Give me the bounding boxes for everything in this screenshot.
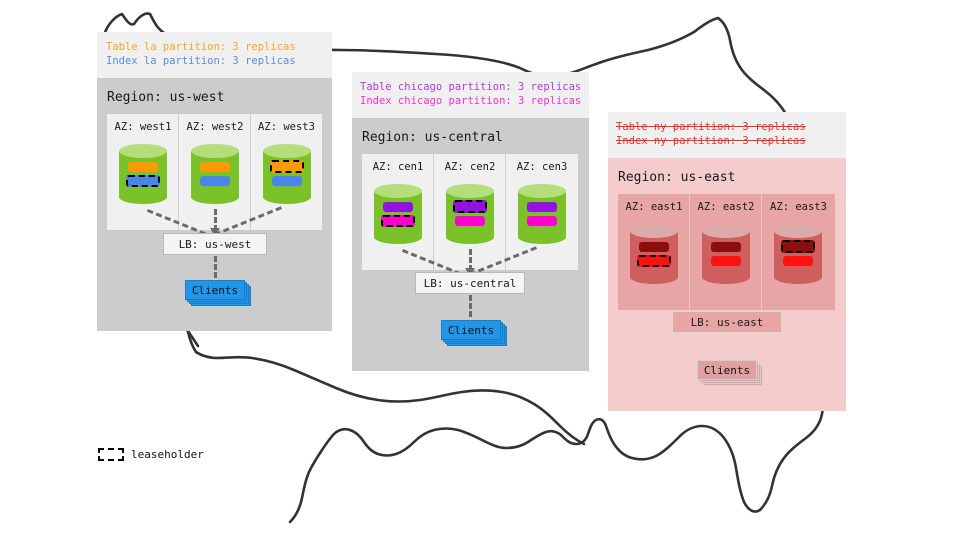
database-cylinder-cen1[interactable]: [374, 184, 422, 244]
us-west-table-partition-line: Table la partition: 3 replicas: [106, 41, 296, 53]
index-replica-bar-west2: [200, 176, 230, 186]
az-label-cen2: AZ: cen2: [434, 161, 506, 173]
az-label-east1: AZ: east1: [618, 201, 690, 213]
index-replica-bar-west1-leaseholder: [126, 175, 160, 187]
load-balancer-us-east[interactable]: LB: us-east: [672, 311, 782, 333]
az-label-west2: AZ: west2: [179, 121, 251, 133]
us-central-index-partition-line: Index chicago partition: 3 replicas: [360, 95, 581, 107]
clients-box-us-west[interactable]: Clients: [185, 280, 245, 300]
az-label-cen3: AZ: cen3: [506, 161, 578, 173]
index-replica-bar-cen3: [527, 216, 557, 226]
clients-box-us-central[interactable]: Clients: [441, 320, 501, 340]
clients-stack-us-central[interactable]: Clients: [441, 320, 507, 346]
database-cylinder-east2[interactable]: [702, 224, 750, 284]
index-replica-bar-east3: [783, 256, 813, 266]
database-cylinder-cen2[interactable]: [446, 184, 494, 244]
table-replica-bar-cen3: [527, 202, 557, 212]
table-replica-bar-east3-leaseholder: [781, 240, 815, 253]
database-cylinder-west1[interactable]: [119, 144, 167, 204]
database-cylinder-west2[interactable]: [191, 144, 239, 204]
diagram-canvas: Table la partition: 3 replicas Index la …: [0, 0, 960, 540]
us-west-index-partition-line: Index la partition: 3 replicas: [106, 55, 296, 67]
table-replica-bar-west1: [128, 162, 158, 172]
connector-lb-to-clients-west: [214, 256, 217, 278]
database-cylinder-west3[interactable]: [263, 144, 311, 204]
load-balancer-us-west[interactable]: LB: us-west: [163, 233, 267, 255]
index-replica-bar-cen2: [455, 216, 485, 226]
az-label-cen1: AZ: cen1: [362, 161, 434, 173]
az-label-west3: AZ: west3: [251, 121, 322, 133]
table-replica-bar-east1: [639, 242, 669, 252]
table-replica-bar-cen1: [383, 202, 413, 212]
table-replica-bar-cen2-leaseholder: [453, 200, 487, 213]
index-replica-bar-west3: [272, 176, 302, 186]
clients-stack-us-east[interactable]: Clients: [697, 360, 763, 386]
index-replica-bar-east2: [711, 256, 741, 266]
us-west-region-title: Region: us-west: [107, 90, 224, 105]
az-label-east3: AZ: east3: [762, 201, 835, 213]
us-central-region-title: Region: us-central: [362, 130, 503, 145]
leaseholder-swatch-icon: [98, 448, 124, 461]
us-east-index-partition-line: Index ny partition: 3 replicas: [616, 135, 806, 147]
database-cylinder-east1[interactable]: [630, 224, 678, 284]
connector-lb-to-clients-central: [469, 295, 472, 317]
clients-stack-us-west[interactable]: Clients: [185, 280, 251, 306]
database-cylinder-cen3[interactable]: [518, 184, 566, 244]
load-balancer-us-central[interactable]: LB: us-central: [415, 272, 525, 294]
legend: leaseholder: [98, 448, 204, 461]
us-east-region-title: Region: us-east: [618, 170, 735, 185]
us-central-table-partition-line: Table chicago partition: 3 replicas: [360, 81, 581, 93]
legend-label: leaseholder: [131, 448, 204, 461]
clients-box-us-east[interactable]: Clients: [697, 360, 757, 380]
az-label-west1: AZ: west1: [107, 121, 179, 133]
index-replica-bar-east1-leaseholder: [637, 255, 671, 267]
table-replica-bar-east2: [711, 242, 741, 252]
database-cylinder-east3[interactable]: [774, 224, 822, 284]
table-replica-bar-west2: [200, 162, 230, 172]
index-replica-bar-cen1-leaseholder: [381, 215, 415, 227]
az-label-east2: AZ: east2: [690, 201, 762, 213]
us-east-table-partition-line: Table ny partition: 3 replicas: [616, 121, 806, 133]
table-replica-bar-west3-leaseholder: [270, 160, 304, 173]
